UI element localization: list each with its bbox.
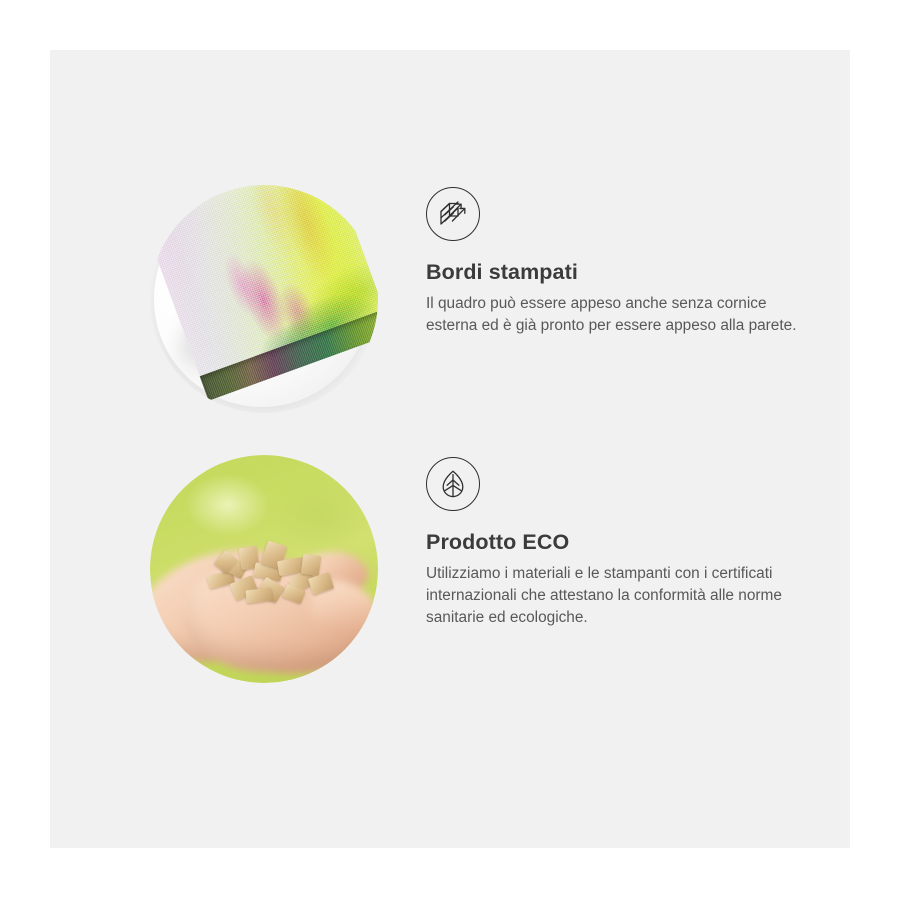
feature-title: Bordi stampati — [426, 260, 798, 286]
wood-chips-pile — [202, 537, 338, 613]
feature-eco-product: Prodotto ECO Utilizziamo i materiali e l… — [150, 455, 798, 683]
canvas-print-corner-photo — [150, 185, 378, 413]
feature-description: Utilizziamo i materiali e le stampanti c… — [426, 563, 798, 629]
feature-description: Il quadro può essere appeso anche senza … — [426, 293, 798, 337]
feature-text-column: Prodotto ECO Utilizziamo i materiali e l… — [426, 455, 798, 629]
content-panel: Bordi stampati Il quadro può essere appe… — [50, 50, 850, 848]
canvas-block — [150, 185, 378, 413]
canvas-wrapped-edge-icon — [426, 187, 480, 241]
feature-text-column: Bordi stampati Il quadro può essere appe… — [426, 185, 798, 337]
feature-printed-edges: Bordi stampati Il quadro può essere appe… — [150, 185, 798, 413]
hands-holding-wood-chips-photo — [150, 455, 378, 683]
leaf-icon — [426, 457, 480, 511]
feature-title: Prodotto ECO — [426, 530, 798, 556]
product-info-page: Bordi stampati Il quadro può essere appe… — [0, 0, 900, 900]
